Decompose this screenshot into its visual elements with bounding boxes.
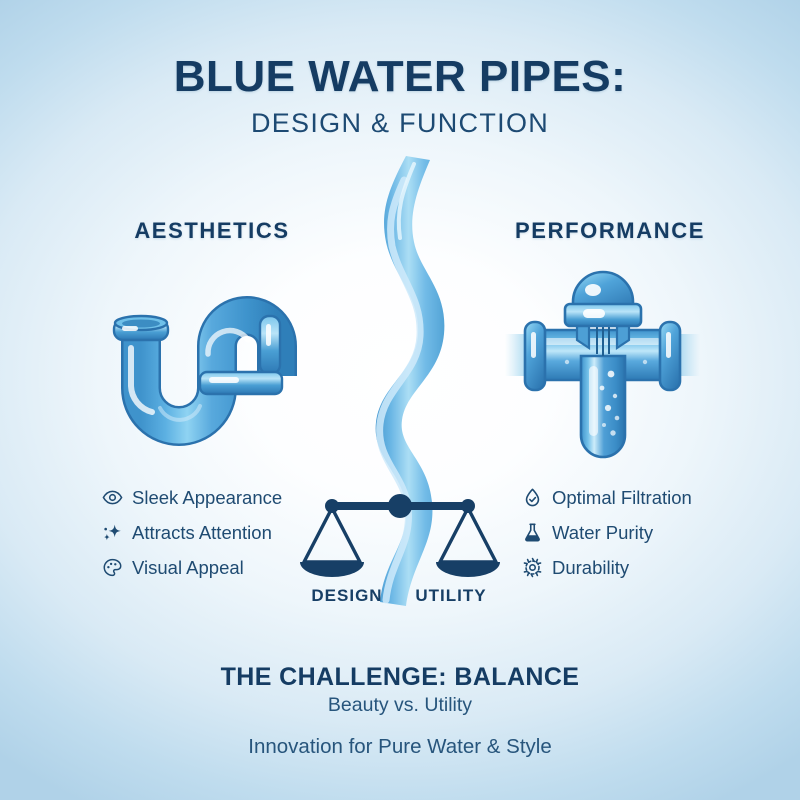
flask-icon bbox=[522, 522, 543, 543]
performance-feature-list: Optimal Filtration Water Purity Durabi bbox=[522, 480, 692, 585]
eye-icon bbox=[102, 487, 123, 508]
list-item: Optimal Filtration bbox=[522, 480, 692, 515]
palette-icon bbox=[102, 557, 123, 578]
list-item: Sleek Appearance bbox=[102, 480, 282, 515]
scale-label-utility: UTILITY bbox=[406, 586, 496, 606]
list-item-label: Visual Appeal bbox=[132, 557, 244, 579]
p-trap-pipe-illustration bbox=[108, 268, 298, 468]
valve-filter-pipe-illustration bbox=[505, 270, 700, 470]
list-item-label: Water Purity bbox=[552, 522, 653, 544]
gear-icon bbox=[522, 557, 543, 578]
list-item: Durability bbox=[522, 550, 692, 585]
section-heading-performance: PERFORMANCE bbox=[460, 218, 760, 244]
list-item-label: Durability bbox=[552, 557, 629, 579]
list-item: Visual Appeal bbox=[102, 550, 282, 585]
page-subtitle: DESIGN & FUNCTION bbox=[0, 108, 800, 139]
page-title: BLUE WATER PIPES: bbox=[0, 52, 800, 102]
list-item: Attracts Attention bbox=[102, 515, 282, 550]
footer-subheading: Beauty vs. Utility bbox=[0, 694, 800, 717]
balance-scale-icon bbox=[300, 478, 500, 593]
list-item-label: Sleek Appearance bbox=[132, 487, 282, 509]
aesthetics-feature-list: Sleek Appearance Attracts Attention bbox=[102, 480, 282, 585]
section-heading-aesthetics: AESTHETICS bbox=[62, 218, 362, 244]
scale-label-design: DESIGN bbox=[302, 586, 392, 606]
footer-heading: THE CHALLENGE: BALANCE bbox=[0, 663, 800, 692]
footer-tagline: Innovation for Pure Water & Style bbox=[0, 735, 800, 759]
list-item: Water Purity bbox=[522, 515, 692, 550]
infographic-canvas: BLUE WATER PIPES: DESIGN & FUNCTION AEST… bbox=[0, 0, 800, 800]
droplet-check-icon bbox=[522, 487, 543, 508]
sparkle-icon bbox=[102, 522, 123, 543]
list-item-label: Attracts Attention bbox=[132, 522, 272, 544]
list-item-label: Optimal Filtration bbox=[552, 487, 692, 509]
